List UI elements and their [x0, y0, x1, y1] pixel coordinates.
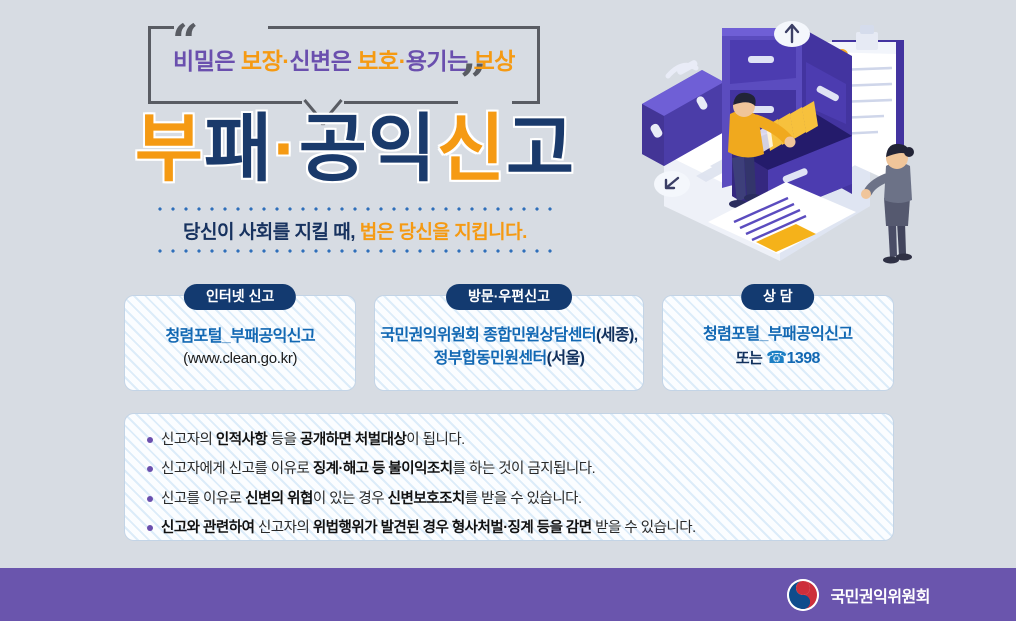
channel-card-list: 인터넷 신고 청렴포털_부패공익신고 (www.clean.go.kr) 방문·…: [124, 295, 894, 391]
tagline-seg-2: 보장·: [241, 48, 289, 74]
notice-item: 신고를 이유로 신변의 위협이 있는 경우 신변보호조치를 받을 수 있습니다.: [147, 488, 873, 510]
tagline-seg-4: 보호·: [357, 48, 405, 74]
notice-item: 신고자에게 신고를 이유로 징계·해고 등 불이익조치를 하는 것이 금지됩니다…: [147, 458, 873, 480]
footer-bar: 국민권익위원회: [0, 568, 1016, 621]
notice-item: 신고자의 인적사항 등을 공개하면 처벌대상이 됩니다.: [147, 429, 873, 451]
card-consult-phone-number[interactable]: 1398: [787, 350, 820, 367]
notice-panel: 신고자의 인적사항 등을 공개하면 처벌대상이 됩니다. 신고자에게 신고를 이…: [124, 413, 894, 541]
title-char-7: 고: [506, 107, 575, 190]
notice-item: 신고와 관련하여 신고자의 위법행위가 발견된 경우 형사처벌·징계 등을 감면…: [147, 517, 873, 539]
notice-text: 신고와 관련하여 신고자의 위법행위가 발견된 경우 형사처벌·징계 등을 감면…: [161, 517, 696, 539]
frame-line-bottom-mid: [344, 101, 458, 104]
card-visit-line1-main: 국민권익위원회 종합민원상담센터: [380, 327, 596, 344]
dotted-rule-bottom: [155, 249, 555, 253]
card-internet-url[interactable]: (www.clean.go.kr): [183, 348, 297, 370]
title-char-4: 공: [299, 107, 368, 190]
card-visit-line2-main: 정부합동민원센터: [434, 350, 547, 367]
frame-line-bottom-right: [512, 101, 540, 104]
bullet-icon: [147, 525, 153, 531]
telephone-icon: ☎: [766, 348, 787, 367]
tagline-seg-5: 용기는: [406, 48, 468, 74]
page-title: 부패·공익신고: [100, 112, 610, 186]
card-consultation[interactable]: 상 담 청렴포털_부패공익신고 또는 ☎1398: [662, 295, 894, 391]
page-subtitle: 당신이 사회를 지킬 때, 법은 당신을 지킵니다.: [155, 211, 555, 249]
card-visit-line2: 정부합동민원센터(서울): [434, 347, 585, 370]
title-char-5: 익: [368, 107, 437, 190]
card-internet-report[interactable]: 인터넷 신고 청렴포털_부패공익신고 (www.clean.go.kr): [124, 295, 356, 391]
card-consult-line1: 청렴포털_부패공익신고: [703, 323, 853, 346]
title-char-6: 신: [437, 107, 506, 190]
tagline-seg-1: 비밀은: [173, 48, 235, 74]
card-visit-line1-paren: (세종),: [596, 327, 638, 344]
notice-text: 신고자의 인적사항 등을 공개하면 처벌대상이 됩니다.: [161, 429, 465, 451]
subtitle-part-orange: 법은 당신을 지킵니다.: [360, 222, 527, 243]
card-consult-line2: 또는 ☎1398: [736, 346, 820, 371]
card-badge-visit-mail: 방문·우편신고: [446, 284, 572, 310]
notice-text: 신고자에게 신고를 이유로 징계·해고 등 불이익조치를 하는 것이 금지됩니다…: [161, 458, 595, 480]
footer-organization-name: 국민권익위원회: [830, 583, 930, 607]
tagline-seg-3: 신변은: [289, 48, 351, 74]
card-internet-line1: 청렴포털_부패공익신고: [165, 325, 315, 348]
header-tagline: 비밀은 보장·신변은 보호·용기는 보상: [148, 42, 540, 76]
card-visit-mail-report[interactable]: 방문·우편신고 국민권익위원회 종합민원상담센터(세종), 정부합동민원센터(서…: [374, 295, 643, 391]
title-char-1: 부: [135, 107, 204, 190]
title-char-2: 패: [204, 107, 273, 190]
title-char-3: ·: [273, 107, 299, 190]
poster-root: “ ” 비밀은 보장·신변은 보호·용기는 보상 부패·공익신고 당신이 사회를…: [0, 0, 1016, 621]
bullet-icon: [147, 437, 153, 443]
card-consult-or-label: 또는: [736, 350, 762, 367]
card-badge-internet: 인터넷 신고: [184, 284, 296, 310]
bullet-icon: [147, 466, 153, 472]
isometric-illustration: [620, 6, 1016, 282]
taegeuk-emblem-icon: [787, 579, 819, 611]
tagline-seg-6: 보상: [474, 48, 515, 74]
frame-line-top-left: [148, 26, 174, 29]
footer-logo: 국민권익위원회: [787, 579, 930, 611]
frame-line-bottom-left: [148, 101, 302, 104]
subtitle-block: 당신이 사회를 지킬 때, 법은 당신을 지킵니다.: [155, 207, 555, 253]
frame-line-top-right: [268, 26, 540, 29]
notice-text: 신고를 이유로 신변의 위협이 있는 경우 신변보호조치를 받을 수 있습니다.: [161, 488, 582, 510]
card-visit-line2-paren: (서울): [547, 350, 585, 367]
card-visit-line1: 국민권익위원회 종합민원상담센터(세종),: [380, 324, 637, 347]
bullet-icon: [147, 496, 153, 502]
card-badge-consultation: 상 담: [741, 284, 815, 310]
subtitle-part-navy: 당신이 사회를 지킬 때,: [183, 222, 360, 243]
